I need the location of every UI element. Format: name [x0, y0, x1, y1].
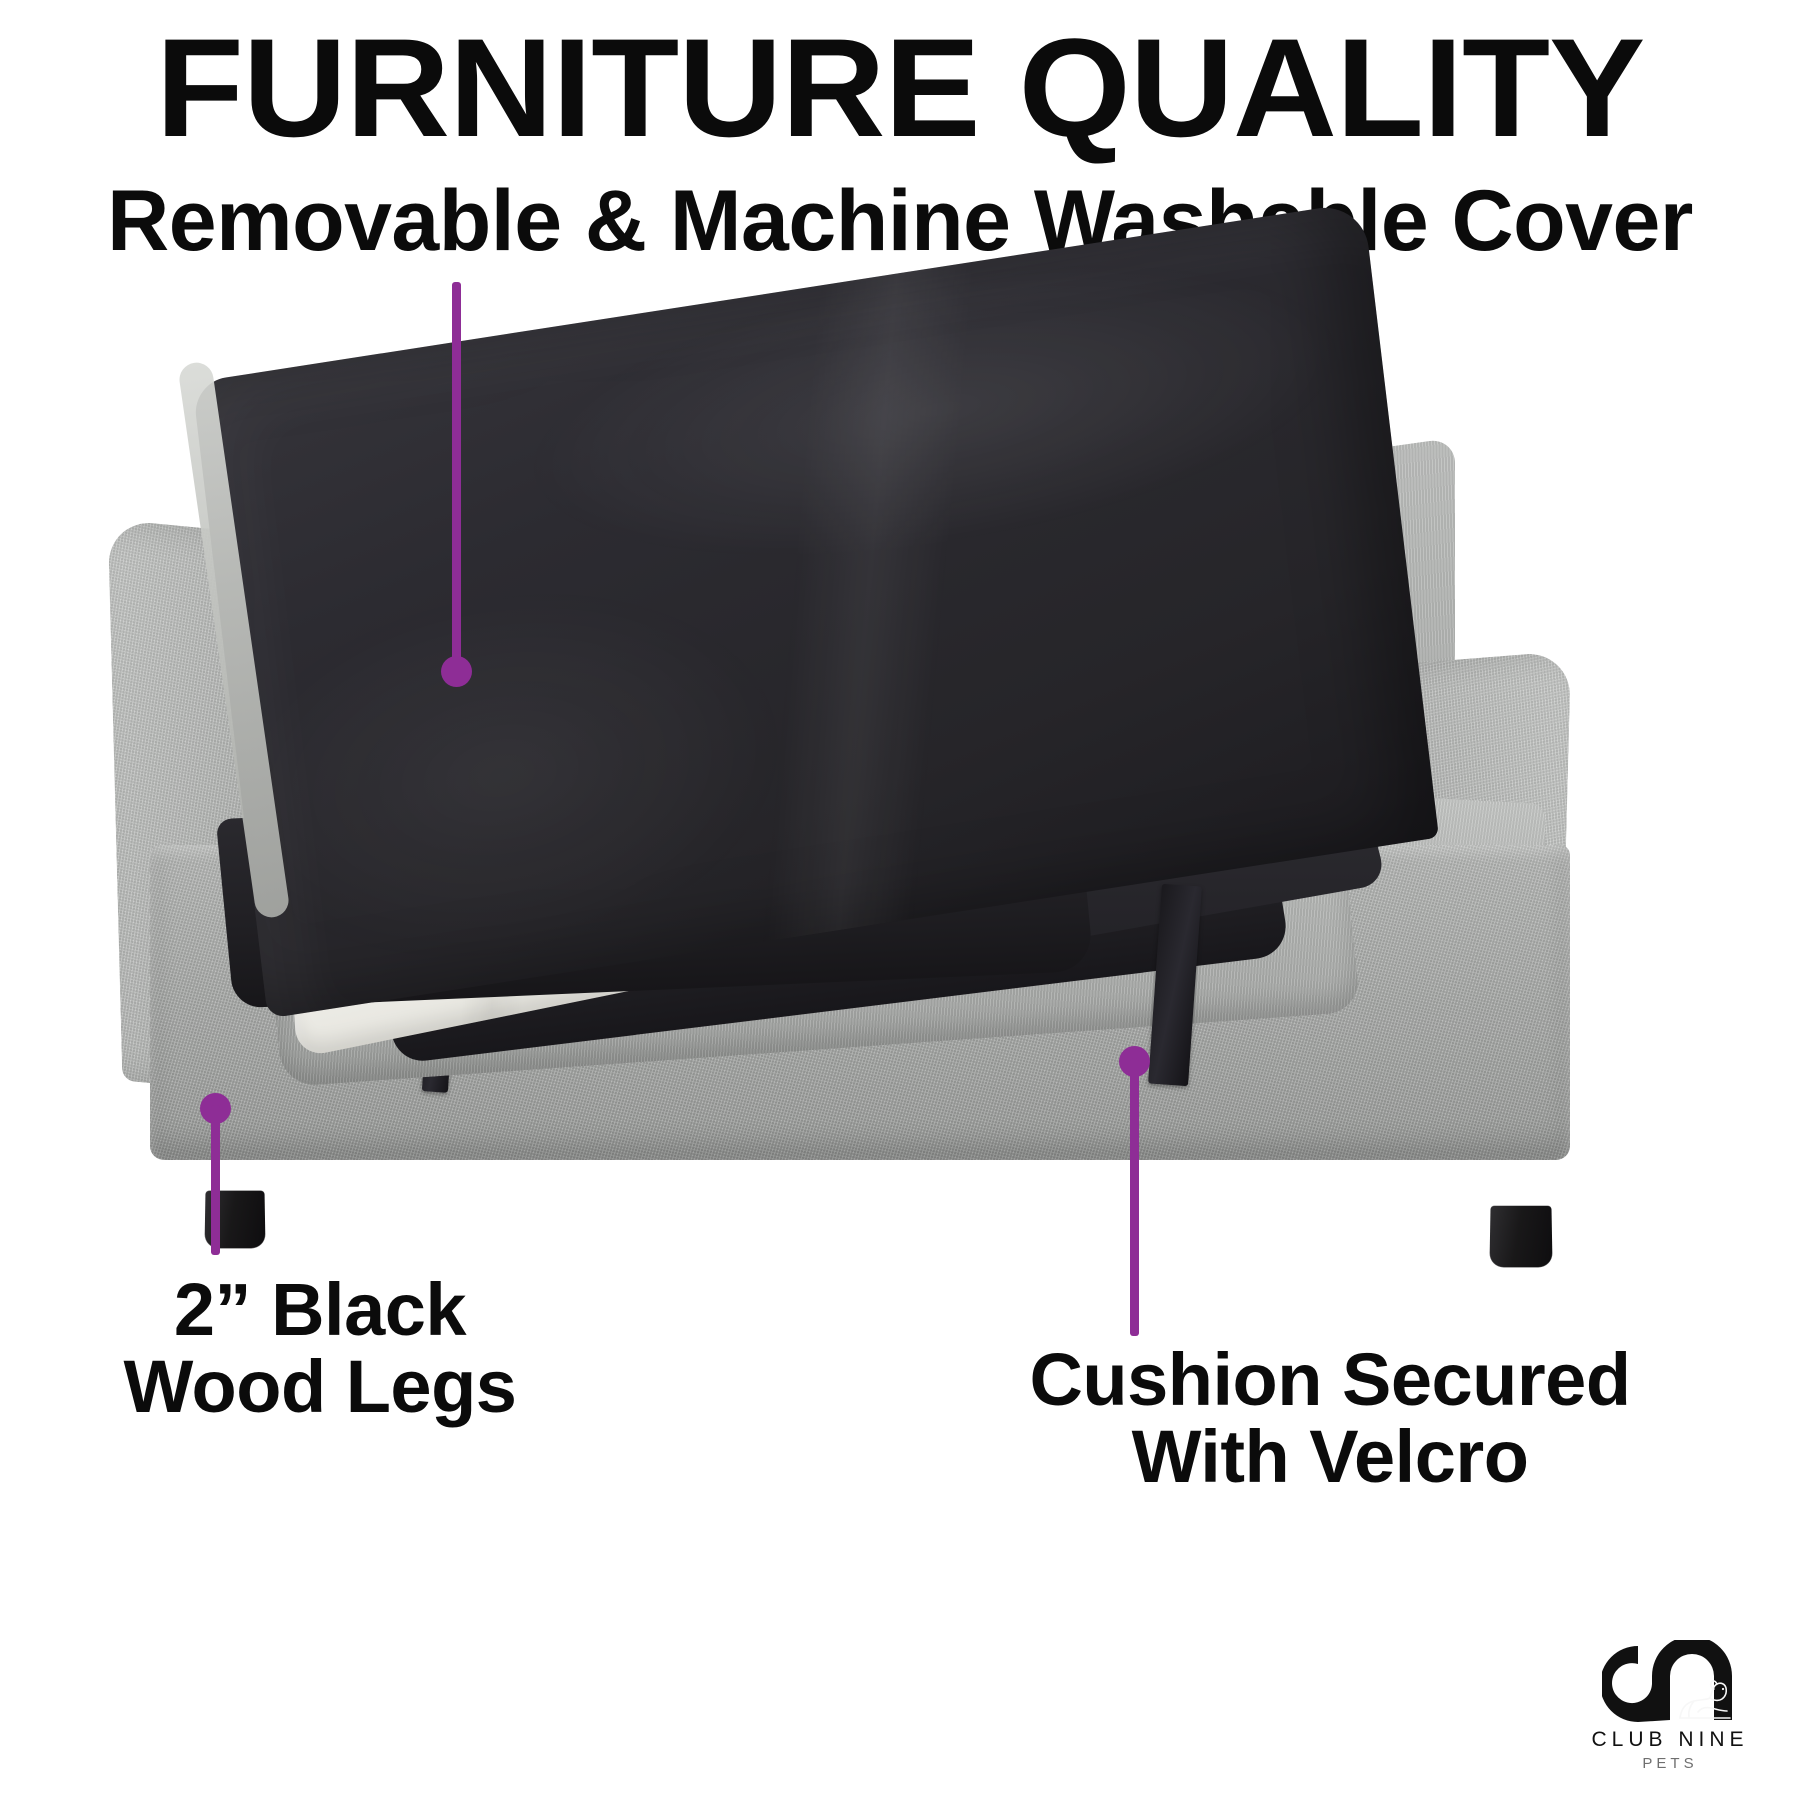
product-photo [95, 300, 1705, 1290]
sofa-leg-front-right [1489, 1206, 1552, 1268]
callout-legs-line1: 2” Black [60, 1272, 580, 1349]
page-title: FURNITURE QUALITY [0, 18, 1800, 158]
logo-brand-name: CLUB NINE [1570, 1728, 1770, 1752]
callout-velcro-line2: With Velcro [880, 1419, 1780, 1496]
leader-line-velcro [1130, 1058, 1139, 1336]
callout-legs-line2: Wood Legs [60, 1349, 580, 1426]
page-subtitle: Removable & Machine Washable Cover [0, 178, 1800, 264]
infographic-canvas: FURNITURE QUALITY Removable & Machine Wa… [0, 0, 1800, 1800]
leader-line-cover [452, 282, 461, 674]
callout-label-velcro: Cushion Secured With Velcro [880, 1342, 1780, 1496]
callout-label-legs: 2” Black Wood Legs [60, 1272, 580, 1426]
brand-logo: CLUB NINE PETS [1570, 1640, 1770, 1780]
leader-line-legs [211, 1105, 220, 1255]
callout-velcro-line1: Cushion Secured [880, 1342, 1780, 1419]
leader-dot-cover [441, 656, 472, 687]
cn-monogram-icon [1602, 1640, 1742, 1722]
logo-brand-tagline: PETS [1570, 1755, 1770, 1772]
